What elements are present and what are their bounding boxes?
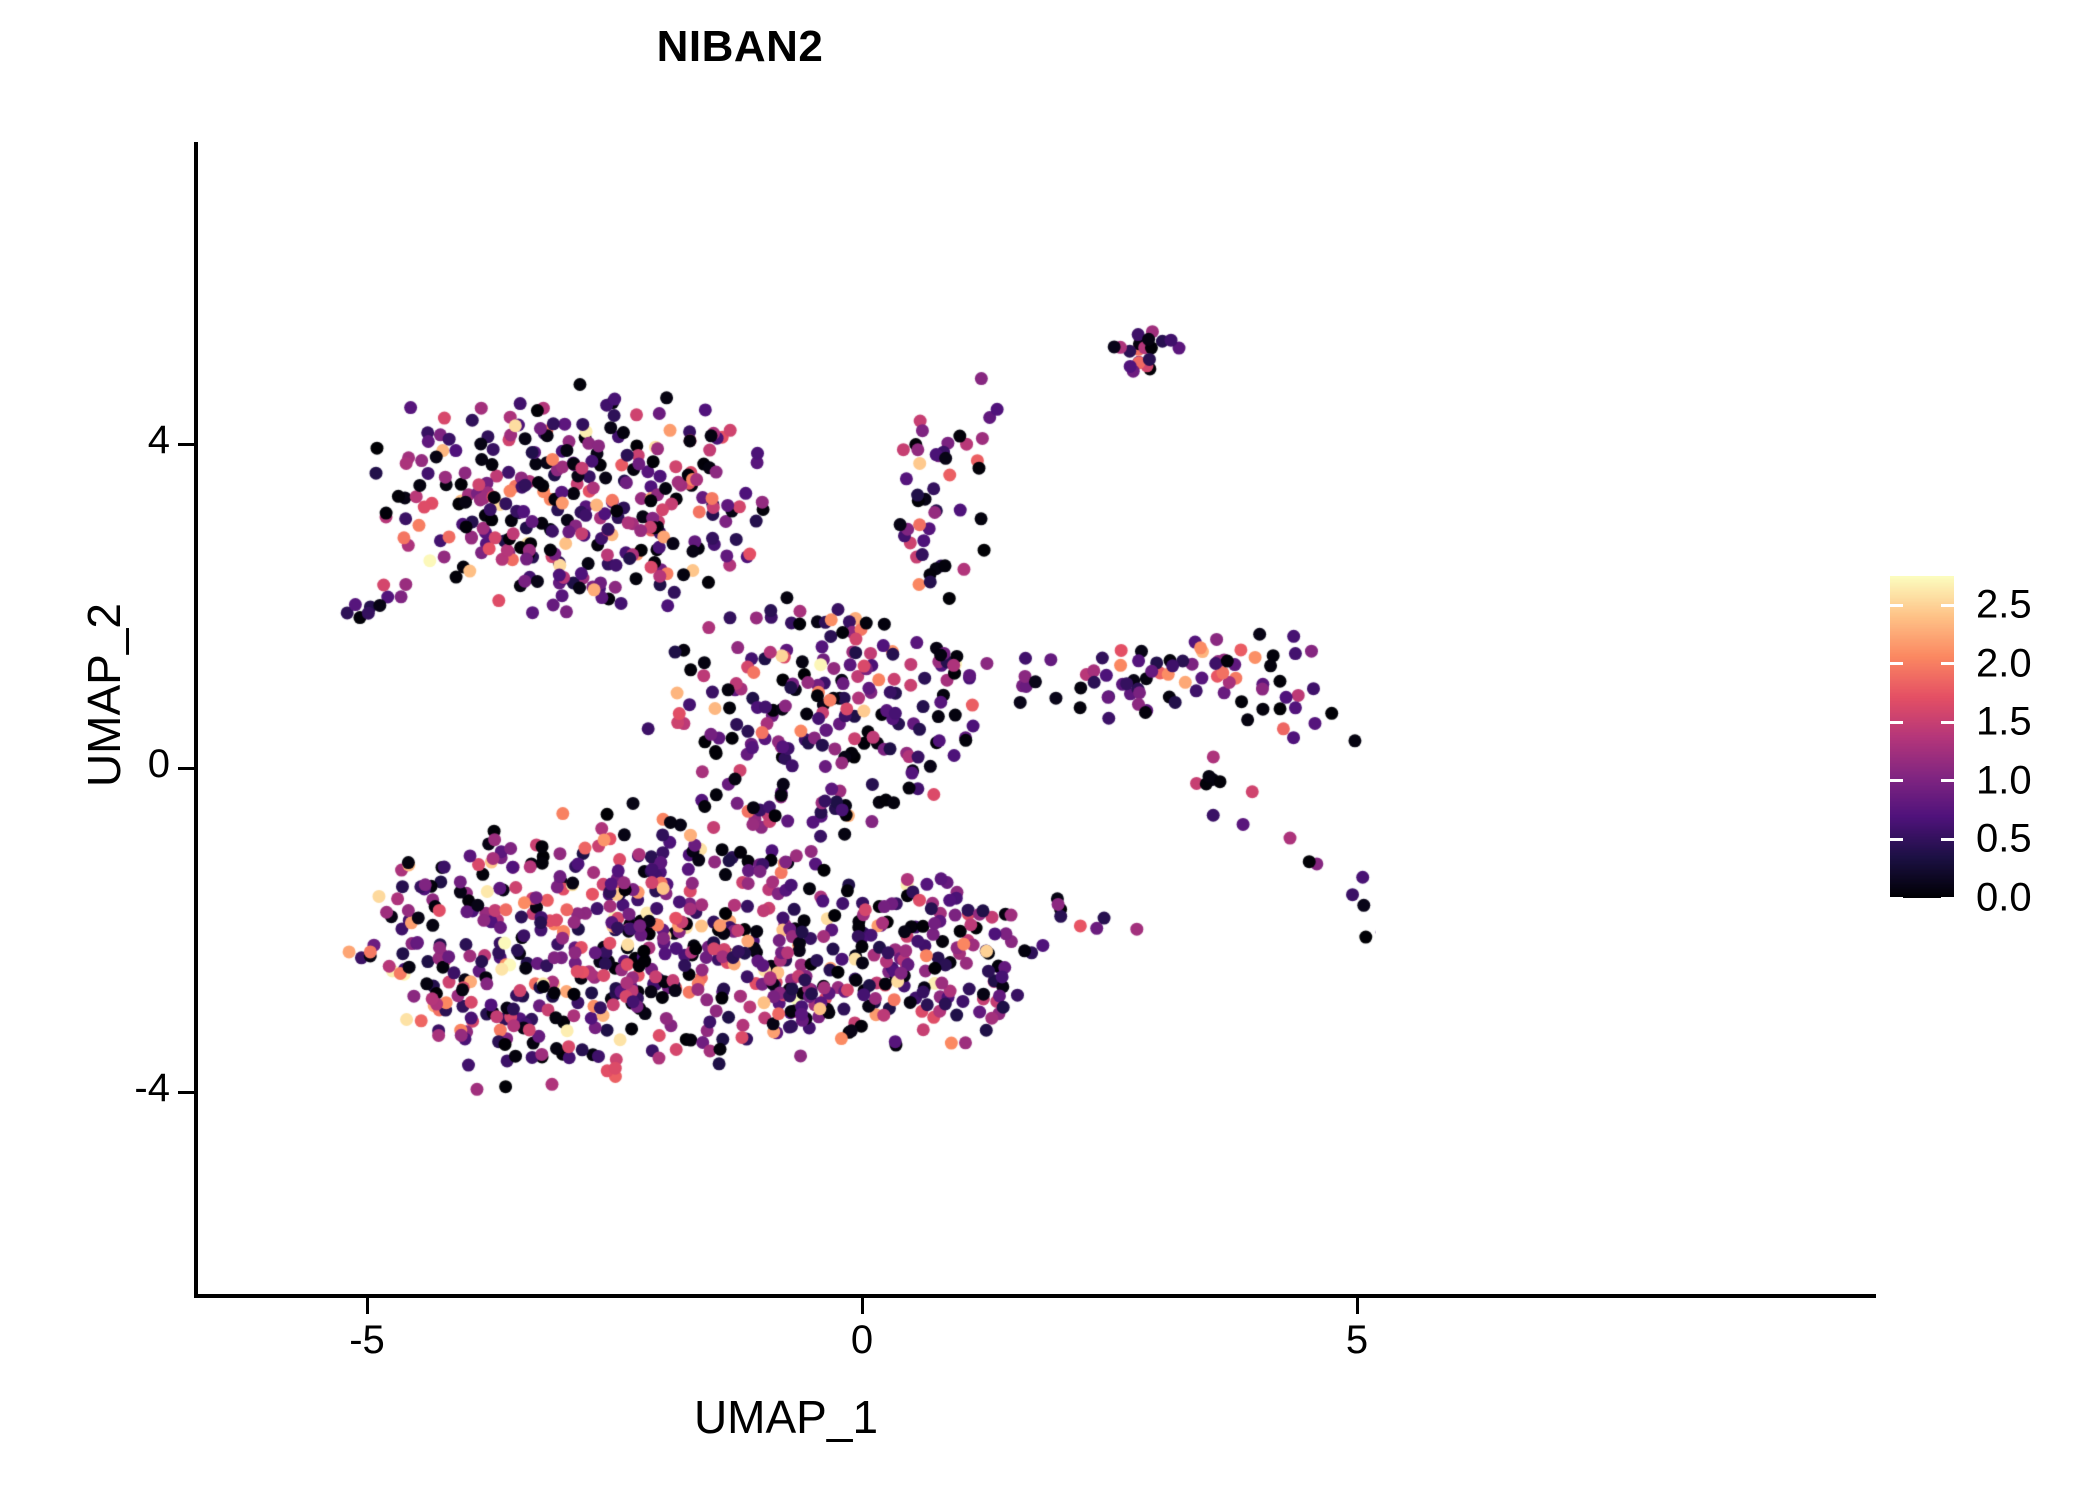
colorbar-tick-mark [1890, 721, 1903, 724]
plot-panel [196, 142, 1376, 1294]
colorbar-tick-mark [1890, 662, 1903, 665]
colorbar-tick-label: 0.5 [1976, 817, 2032, 862]
y-tick-mark [178, 1091, 194, 1094]
colorbar-tick-mark [1941, 838, 1954, 841]
colorbar-tick-mark [1890, 604, 1903, 607]
y-axis-title: UMAP_2 [77, 315, 131, 1075]
colorbar-tick-mark [1941, 604, 1954, 607]
colorbar-tick-label: 1.0 [1976, 758, 2032, 803]
chart-root: NIBAN2 40-4 -505 UMAP_1 UMAP_2 2.52.01.5… [0, 0, 2100, 1500]
colorbar-gradient [1890, 576, 1954, 898]
y-tick-mark [178, 443, 194, 446]
page-title: NIBAN2 [0, 22, 1480, 72]
colorbar-tick-mark [1890, 897, 1903, 900]
colorbar-tick-mark [1941, 721, 1954, 724]
colorbar-tick-mark [1890, 838, 1903, 841]
colorbar-tick-label: 2.5 [1976, 583, 2032, 628]
x-tick-label: 0 [792, 1318, 932, 1363]
colorbar-tick-label: 2.0 [1976, 641, 2032, 686]
scatter-points-canvas [196, 142, 1376, 1294]
colorbar-legend: 2.52.01.51.00.50.0 [1890, 576, 2080, 906]
colorbar-tick-label: 0.0 [1976, 876, 2032, 921]
x-tick-mark [861, 1298, 864, 1314]
y-tick-mark [178, 767, 194, 770]
x-tick-label: 5 [1287, 1318, 1427, 1363]
x-axis-title: UMAP_1 [196, 1390, 1376, 1444]
colorbar-tick-mark [1941, 662, 1954, 665]
x-axis-line [194, 1294, 1876, 1298]
colorbar-tick-mark [1890, 779, 1903, 782]
x-tick-mark [1356, 1298, 1359, 1314]
colorbar-tick-mark [1941, 779, 1954, 782]
x-tick-label: -5 [297, 1318, 437, 1363]
colorbar-tick-label: 1.5 [1976, 700, 2032, 745]
colorbar-tick-mark [1941, 897, 1954, 900]
y-axis-line [194, 142, 198, 1298]
x-tick-mark [366, 1298, 369, 1314]
